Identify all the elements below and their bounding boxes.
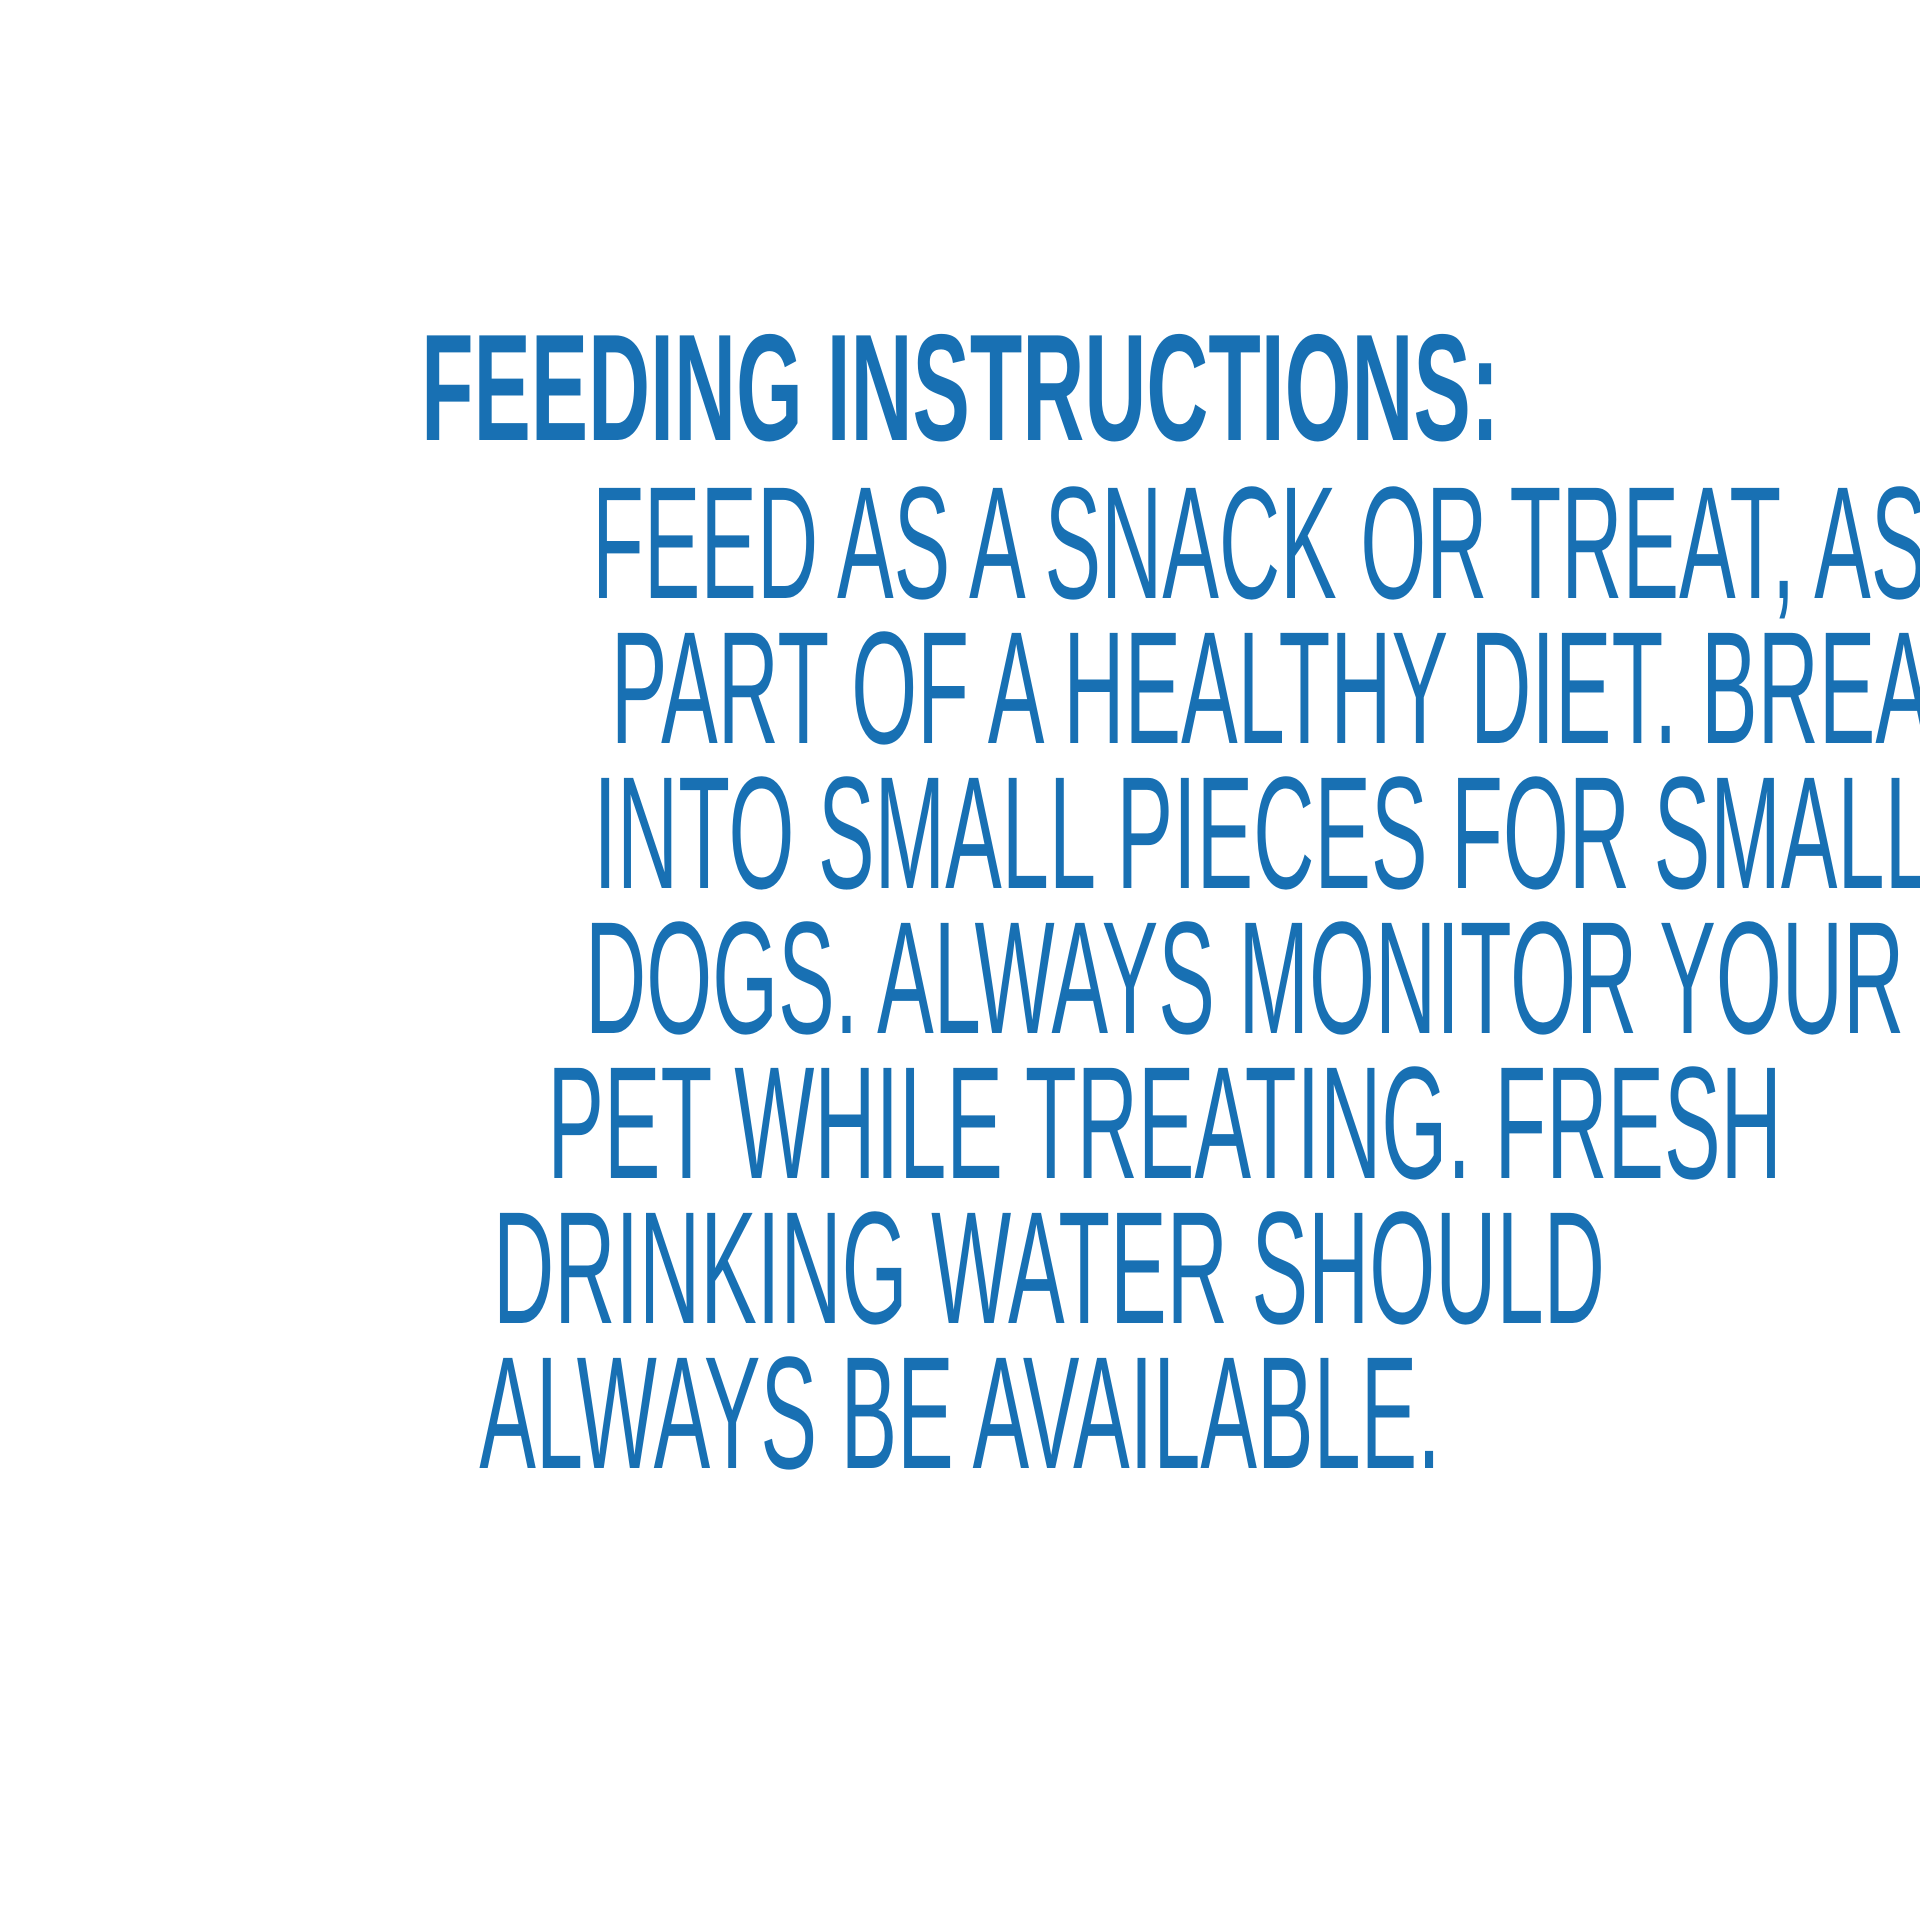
page-title: FEEDING INSTRUCTIONS: (421, 318, 1499, 459)
instructions-body: FEED AS A SNACK OR TREAT, AS PART OF A H… (0, 470, 1920, 1485)
instruction-line: DOGS. ALWAYS MONITOR YOUR (0, 905, 1920, 1050)
heading-container: FEEDING INSTRUCTIONS: (0, 318, 1920, 459)
instruction-line-text: FEED AS A SNACK OR TREAT, AS (592, 470, 1920, 615)
instruction-line-text: ALWAYS BE AVAILABLE. (479, 1340, 1440, 1485)
instruction-line: INTO SMALL PIECES FOR SMALL (0, 760, 1920, 905)
instruction-line: DRINKING WATER SHOULD (0, 1195, 1920, 1340)
instruction-line-text: INTO SMALL PIECES FOR SMALL (593, 760, 1920, 905)
instruction-line: PET WHILE TREATING. FRESH (0, 1050, 1920, 1195)
instruction-line-text: DRINKING WATER SHOULD (493, 1195, 1605, 1340)
instruction-line-text: PART OF A HEALTHY DIET. BREAK (611, 615, 1920, 760)
feeding-instructions-panel: FEEDING INSTRUCTIONS: FEED AS A SNACK OR… (0, 0, 1920, 1920)
instruction-line: ALWAYS BE AVAILABLE. (0, 1340, 1920, 1485)
instruction-line-text: DOGS. ALWAYS MONITOR YOUR (585, 905, 1904, 1050)
instruction-line-text: PET WHILE TREATING. FRESH (547, 1050, 1781, 1195)
instruction-line: PART OF A HEALTHY DIET. BREAK (0, 615, 1920, 760)
instruction-line: FEED AS A SNACK OR TREAT, AS (0, 470, 1920, 615)
